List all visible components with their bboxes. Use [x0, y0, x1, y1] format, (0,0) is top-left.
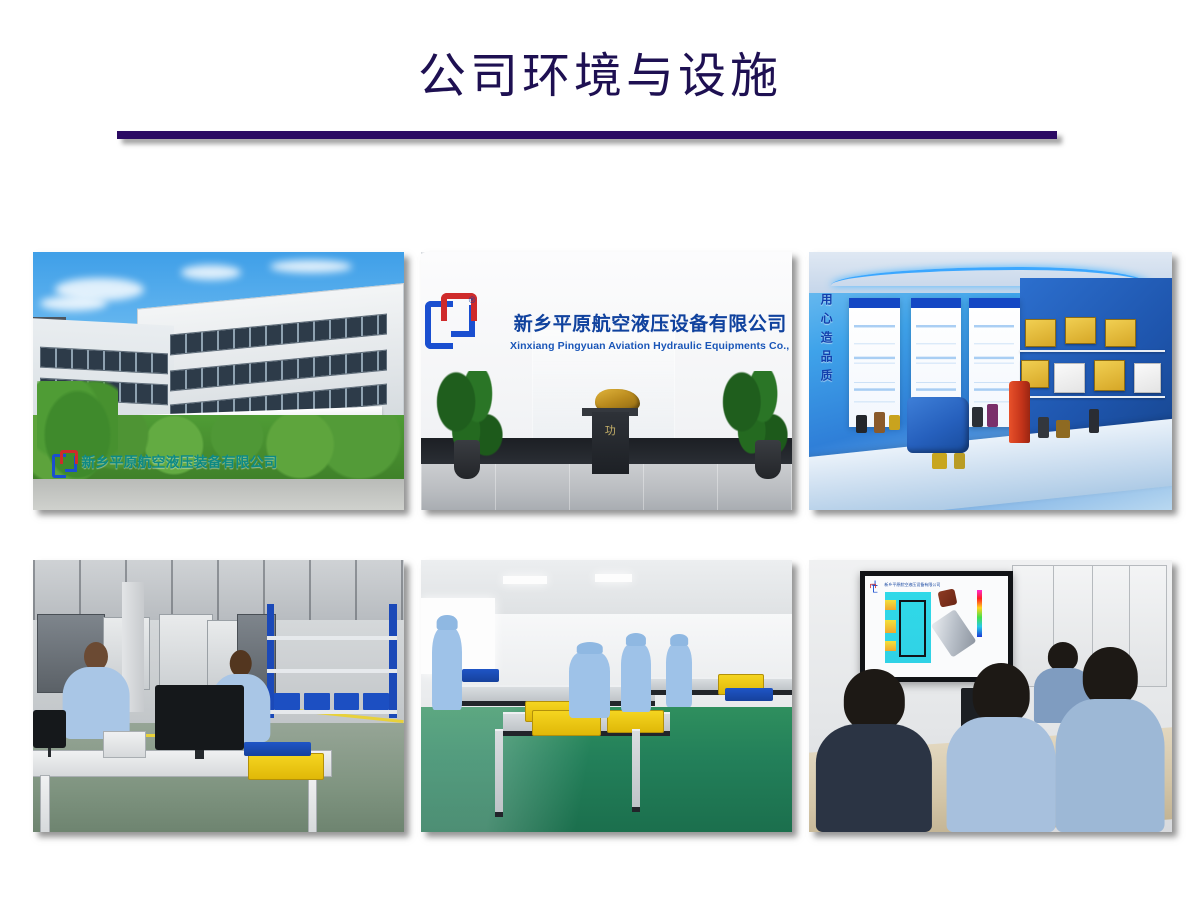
machining-workshop-scene: [33, 560, 404, 832]
product-showroom-scene: 用心造品质: [809, 252, 1172, 510]
product-sample: [874, 412, 885, 433]
certificate-frame: [1054, 363, 1085, 393]
white-toolbox: [103, 731, 146, 757]
slide-logo: 新乡平原航空液压设备有限公司: [873, 581, 940, 589]
parts-bin: [274, 693, 300, 709]
display-shelf: [1020, 350, 1165, 352]
cloud-icon: [270, 260, 352, 273]
photo-grid: 新乡平原航空液压装备有限公司 厂区外景 — 新乡平原航空液压装备有限公司办公楼与…: [33, 252, 1168, 832]
parts-bin: [304, 693, 330, 709]
parts-bin: [334, 693, 360, 709]
title-divider: [117, 131, 1057, 139]
award-plaque: [1105, 319, 1136, 347]
attendee-shirt: [816, 724, 932, 832]
cae-hotspot: [885, 620, 896, 632]
award-plaque: [1094, 360, 1125, 390]
display-screen: 新乡平原航空液压设备有限公司: [865, 576, 1008, 677]
attendee-shirt: [947, 717, 1056, 832]
hydraulic-pump-display: [907, 397, 969, 454]
company-logo-icon: [52, 450, 78, 474]
product-sample: [1038, 417, 1049, 438]
factory-exterior-scene: 新乡平原航空液压装备有限公司: [33, 252, 404, 510]
workbench: [40, 775, 49, 832]
plant-pot: [454, 440, 480, 479]
worker-body: [63, 667, 130, 739]
lobby-company-name-cn: 新乡平原航空液压设备有限公司: [514, 309, 787, 336]
attendee-front-left: [816, 669, 932, 832]
cae-coil-model: [938, 588, 958, 607]
product-sample: [972, 407, 983, 428]
storage-rack: [389, 604, 396, 718]
page-title: 公司环境与设施: [0, 46, 1200, 108]
worker-smock: [432, 628, 462, 710]
photo-assembly-cleanroom[interactable]: 装配洁净车间 — 员工装配作业台: [421, 560, 792, 832]
worker-smock: [621, 644, 651, 712]
factory-sign: 新乡平原航空液压装备有限公司: [52, 450, 278, 474]
worker-cap: [437, 615, 458, 630]
product-poster: [849, 298, 900, 427]
product-sample: [954, 453, 965, 468]
photo-product-showroom[interactable]: 用心造品质 产品展厅: [809, 252, 1172, 510]
company-logo-icon: [873, 584, 876, 587]
engineering-meeting-scene: 新乡平原航空液压设备有限公司: [809, 560, 1172, 832]
blue-parts-bin: [462, 669, 499, 683]
slide-logo-text: 新乡平原航空液压设备有限公司: [884, 582, 940, 588]
attendee-head: [1083, 647, 1137, 706]
attendee-shirt: [1056, 699, 1165, 832]
worker-smock: [569, 652, 610, 717]
award-plaque: [1025, 319, 1056, 347]
monitor: [33, 710, 66, 748]
rack-shelf: [267, 669, 397, 673]
product-sample: [889, 415, 900, 430]
pedestal: [592, 412, 629, 474]
photo-factory-exterior[interactable]: 新乡平原航空液压装备有限公司 厂区外景 — 新乡平原航空液压装备有限公司办公楼与…: [33, 252, 404, 510]
product-sample: [1056, 420, 1071, 438]
worker-cap: [626, 633, 646, 645]
product-sample: [1089, 409, 1100, 432]
product-sample: [932, 453, 947, 468]
cae-hotspot: [885, 600, 896, 610]
lobby-company-name-en: Xinxiang Pingyuan Aviation Hydraulic Equ…: [510, 340, 792, 352]
display-shelf: [1020, 396, 1165, 398]
cae-valve-model: [931, 610, 976, 658]
factory-sign-text: 新乡平原航空液压装备有限公司: [82, 452, 278, 472]
table-leg: [632, 729, 639, 812]
photo-company-lobby[interactable]: ® 新乡平原航空液压设备有限公司 Xinxiang Pingyuan Aviat…: [421, 252, 792, 510]
worker: [63, 642, 130, 740]
worker-smock: [666, 644, 692, 707]
worker-cap: [670, 634, 688, 645]
cae-boundary: [899, 600, 926, 657]
lobby-logo: ®: [425, 293, 483, 329]
plant-pot: [755, 440, 781, 479]
parts-bin: [363, 693, 389, 709]
worker-cap: [577, 642, 604, 654]
product-sample: [856, 415, 867, 433]
product-sample: [987, 404, 998, 427]
monitor: [155, 685, 244, 750]
award-plaque: [1065, 317, 1096, 345]
attendee-front-right: [1056, 647, 1165, 832]
rack-shelf: [267, 636, 397, 640]
assembly-cleanroom-scene: [421, 560, 792, 832]
yellow-tray: [248, 753, 324, 779]
blue-folder: [244, 742, 311, 756]
photo-engineering-meeting[interactable]: 新乡平原航空液压设备有限公司: [809, 560, 1172, 832]
showroom-slogan: 用心造品质: [818, 293, 835, 388]
trademark-symbol: ®: [469, 295, 476, 305]
ceiling-light: [503, 576, 548, 584]
cae-color-legend: [977, 590, 982, 637]
blue-parts-bin: [725, 688, 773, 702]
pedestal-character: 功: [592, 422, 629, 438]
workshop-ceiling: [33, 560, 404, 620]
road: [33, 479, 404, 510]
red-filter-display: [1009, 381, 1031, 443]
rack-shelf: [267, 710, 397, 714]
attendee-head: [973, 663, 1030, 724]
attendee-head: [844, 669, 904, 731]
cae-hotspot: [885, 641, 896, 651]
company-lobby-scene: ® 新乡平原航空液压设备有限公司 Xinxiang Pingyuan Aviat…: [421, 252, 792, 510]
workbench: [308, 775, 317, 832]
table-leg: [495, 729, 502, 818]
certificate-frame: [1134, 363, 1161, 393]
attendee-front-center: [947, 663, 1056, 832]
ceiling-light: [595, 574, 632, 582]
photo-machining-workshop[interactable]: 生产车间 — 数控加工区与物料货架: [33, 560, 404, 832]
